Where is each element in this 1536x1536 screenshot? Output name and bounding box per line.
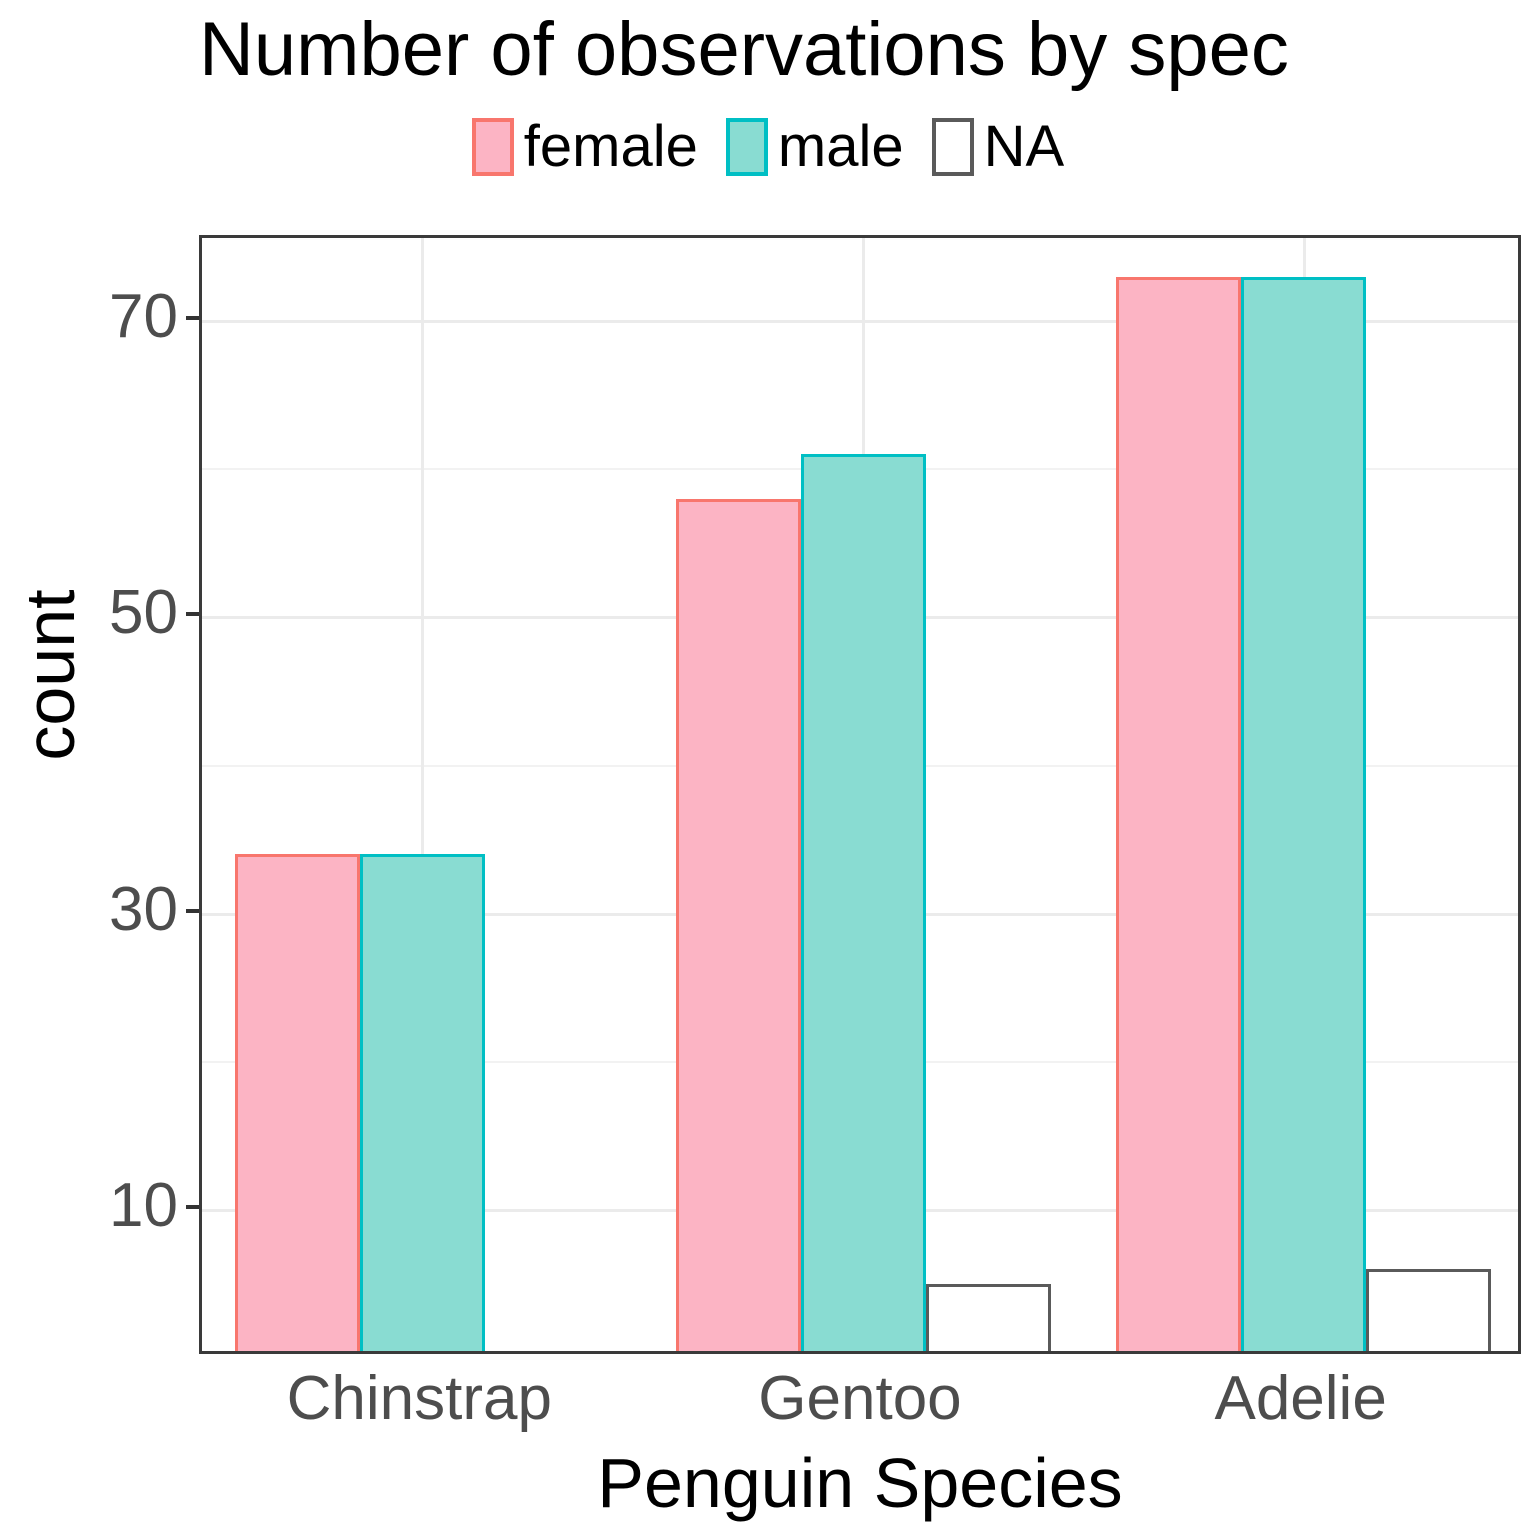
legend-label-female: female [524, 118, 698, 176]
y-tick-mark-50 [186, 612, 199, 616]
bar-adelie-male[interactable] [1241, 277, 1366, 1354]
legend-item-na[interactable]: NA [932, 118, 1065, 176]
legend: female male NA [0, 118, 1536, 176]
x-tick-label-gentoo: Gentoo [640, 1368, 1081, 1430]
x-axis-title: Penguin Species [199, 1448, 1521, 1518]
legend-item-female[interactable]: female [472, 118, 698, 176]
y-tick-label-10: 10 [0, 1175, 178, 1237]
legend-item-male[interactable]: male [726, 118, 904, 176]
legend-label-male: male [778, 118, 904, 176]
y-tick-label-70: 70 [0, 286, 178, 348]
legend-swatch-female [472, 118, 514, 176]
y-tick-label-50: 50 [0, 582, 178, 644]
bar-adelie-na[interactable] [1366, 1269, 1491, 1354]
y-tick-label-30: 30 [0, 879, 178, 941]
legend-swatch-male [726, 118, 768, 176]
bar-gentoo-male[interactable] [801, 454, 926, 1354]
x-tick-label-adelie: Adelie [1080, 1368, 1521, 1430]
chart-title: Number of observations by spec [199, 6, 1536, 94]
x-tick-label-chinstrap: Chinstrap [199, 1368, 640, 1430]
legend-label-na: NA [984, 118, 1065, 176]
bar-chinstrap-male[interactable] [360, 854, 485, 1354]
y-axis-title: count [15, 525, 85, 825]
bar-gentoo-female[interactable] [676, 499, 801, 1354]
bar-gentoo-na[interactable] [926, 1284, 1051, 1354]
y-tick-mark-10 [186, 1205, 199, 1209]
bar-adelie-female[interactable] [1116, 277, 1241, 1354]
legend-swatch-na [932, 118, 974, 176]
y-tick-mark-30 [186, 909, 199, 913]
y-tick-mark-70 [186, 316, 199, 320]
bar-chinstrap-female[interactable] [235, 854, 360, 1354]
plot-panel [199, 235, 1521, 1354]
chart-container: Number of observations by spec female ma… [0, 0, 1536, 1536]
